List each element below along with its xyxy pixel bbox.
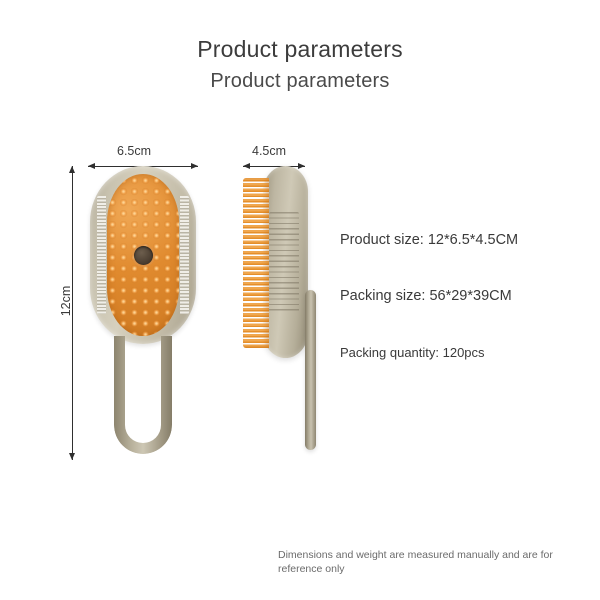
loop-handle-side [305,290,316,450]
spec-product-size: Product size: 12*6.5*4.5CM [340,232,518,248]
dimension-label-side-width: 4.5cm [252,144,286,158]
loop-handle-front [114,336,172,454]
footer-disclaimer: Dimensions and weight are measured manua… [278,548,578,576]
spec-packing-size: Packing size: 56*29*39CM [340,288,512,304]
bristles-side [243,178,269,348]
product-side-view [243,166,308,358]
spec-packing-quantity: Packing quantity: 120pcs [340,345,485,360]
bristle-row-right [180,196,189,314]
grip-ridges [269,212,299,312]
dimension-line-height [72,166,73,460]
center-nozzle-hole [134,246,153,265]
dimension-arrow-height-bottom [69,453,75,460]
product-front-view [90,166,196,344]
bristle-row-left [97,196,106,314]
dimension-label-height: 12cm [59,281,73,321]
dimension-arrow-height-top [69,166,75,173]
page-subtitle: Product parameters [0,70,600,93]
page-title: Product parameters [0,36,600,63]
dimension-label-front-width: 6.5cm [117,144,151,158]
